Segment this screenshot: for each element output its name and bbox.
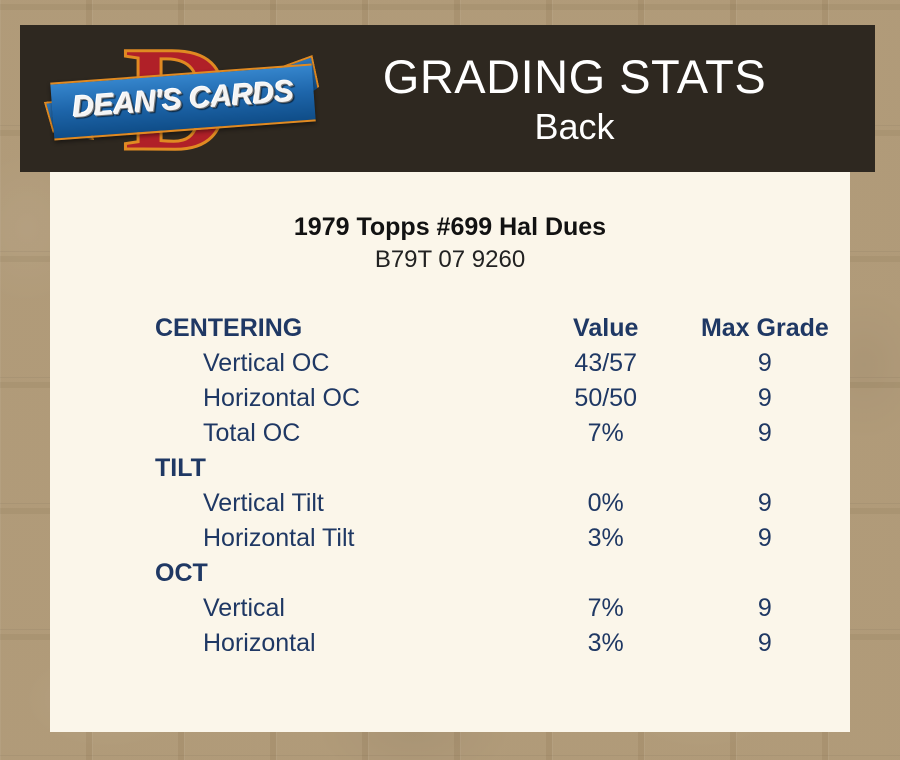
table-row: Vertical Tilt0%9 bbox=[50, 486, 850, 521]
row-max-grade: 9 bbox=[680, 346, 850, 381]
row-value: 7% bbox=[532, 416, 680, 451]
row-value: 3% bbox=[532, 626, 680, 661]
row-value: 7% bbox=[532, 591, 680, 626]
page-header: D DEAN'S CARDS GRADING STATS Back bbox=[20, 25, 875, 172]
row-label: Horizontal Tilt bbox=[50, 521, 532, 556]
table-row: Horizontal OC50/509 bbox=[50, 381, 850, 416]
row-value: 0% bbox=[532, 486, 680, 521]
row-label: OCT bbox=[50, 556, 532, 591]
row-max-grade bbox=[680, 556, 850, 591]
row-value bbox=[532, 556, 680, 591]
row-label: Vertical OC bbox=[50, 346, 532, 381]
row-label: Vertical Tilt bbox=[50, 486, 532, 521]
row-value: 3% bbox=[532, 521, 680, 556]
logo-wordmark: DEAN'S CARDS bbox=[50, 63, 315, 136]
table-row: Vertical OC43/579 bbox=[50, 346, 850, 381]
table-section-row: TILT bbox=[50, 451, 850, 486]
page-subtitle: Back bbox=[314, 105, 835, 149]
row-label: Total OC bbox=[50, 416, 532, 451]
table-row: Horizontal Tilt3%9 bbox=[50, 521, 850, 556]
row-max-grade: 9 bbox=[680, 486, 850, 521]
row-value: Value bbox=[532, 311, 680, 346]
grading-stats-table: CENTERINGValueMax GradeVertical OC43/579… bbox=[50, 311, 850, 661]
row-max-grade: Max Grade bbox=[680, 311, 850, 346]
row-max-grade bbox=[680, 451, 850, 486]
row-label: TILT bbox=[50, 451, 532, 486]
content-panel: 1979 Topps #699 Hal Dues B79T 07 9260 CE… bbox=[50, 172, 850, 732]
table-row: Vertical7%9 bbox=[50, 591, 850, 626]
row-label: Vertical bbox=[50, 591, 532, 626]
row-max-grade: 9 bbox=[680, 521, 850, 556]
grading-stats-body: CENTERINGValueMax GradeVertical OC43/579… bbox=[50, 311, 850, 661]
row-value: 50/50 bbox=[532, 381, 680, 416]
card-title: 1979 Topps #699 Hal Dues bbox=[50, 212, 850, 242]
table-row: Total OC7%9 bbox=[50, 416, 850, 451]
row-label: Horizontal OC bbox=[50, 381, 532, 416]
table-section-row: CENTERINGValueMax Grade bbox=[50, 311, 850, 346]
row-value bbox=[532, 451, 680, 486]
row-value: 43/57 bbox=[532, 346, 680, 381]
deans-cards-logo[interactable]: D DEAN'S CARDS bbox=[52, 29, 314, 169]
row-label: Horizontal bbox=[50, 626, 532, 661]
row-max-grade: 9 bbox=[680, 416, 850, 451]
row-label: CENTERING bbox=[50, 311, 532, 346]
page-title: GRADING STATS bbox=[314, 49, 835, 105]
table-row: Horizontal3%9 bbox=[50, 626, 850, 661]
table-section-row: OCT bbox=[50, 556, 850, 591]
card-id: B79T 07 9260 bbox=[50, 245, 850, 275]
row-max-grade: 9 bbox=[680, 381, 850, 416]
row-max-grade: 9 bbox=[680, 626, 850, 661]
row-max-grade: 9 bbox=[680, 591, 850, 626]
header-title-group: GRADING STATS Back bbox=[314, 49, 875, 149]
